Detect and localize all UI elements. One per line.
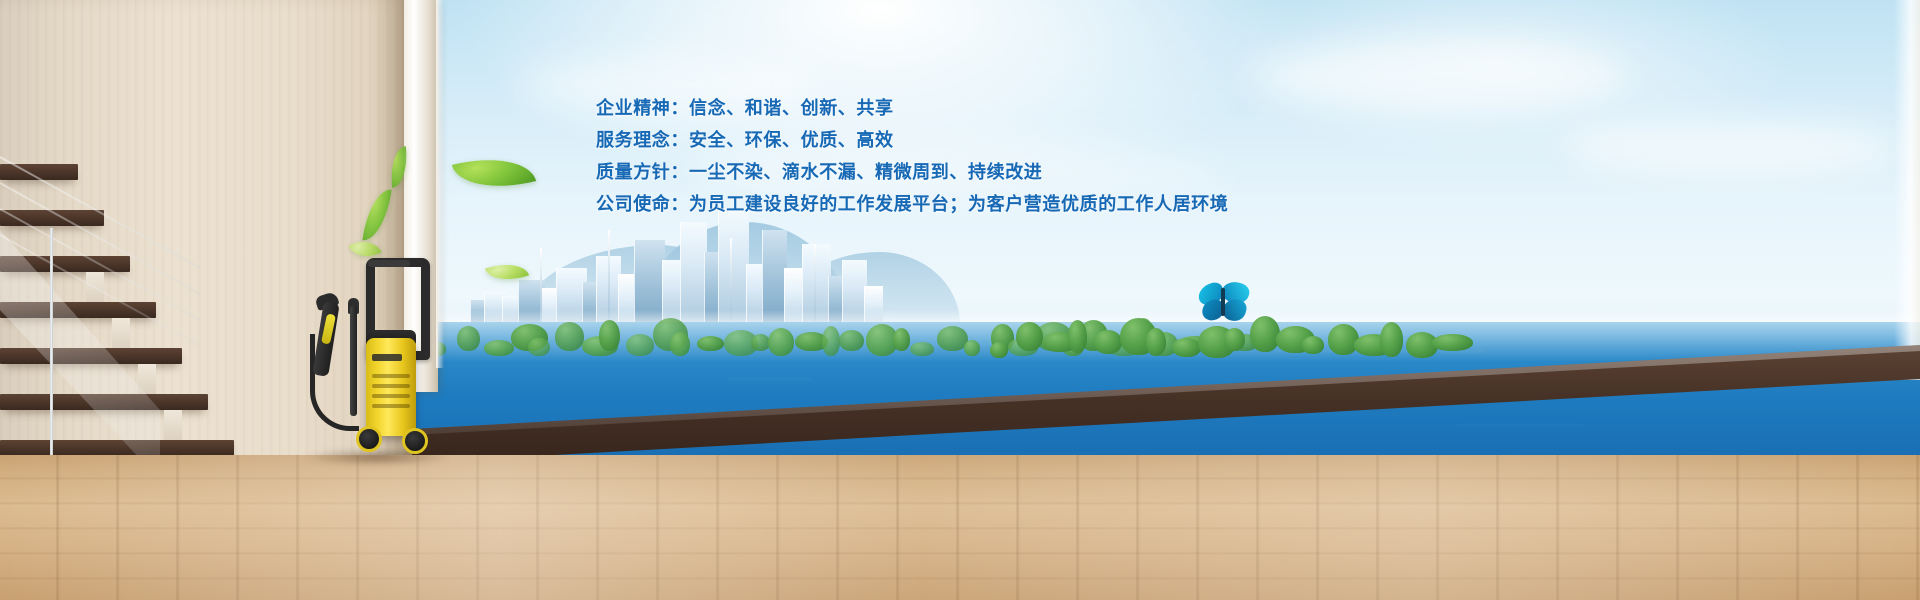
stair-riser — [112, 318, 130, 348]
window-frame-right — [1894, 0, 1920, 380]
washer-vent — [372, 404, 410, 408]
washer-wheel — [402, 428, 428, 454]
stair-tread — [0, 440, 234, 456]
washer-vent — [372, 374, 410, 378]
cloud — [1560, 120, 1900, 175]
washer-badge — [372, 354, 402, 361]
butterfly-icon — [1196, 282, 1252, 328]
washer-wheel — [356, 426, 382, 452]
hero-banner: 企业精神：信念、和谐、创新、共享 服务理念：安全、环保、优质、高效 质量方针：一… — [0, 0, 1920, 600]
philosophy-line-mission: 公司使命：为员工建设良好的工作发展平台；为客户营造优质的工作人居环境 — [596, 188, 1356, 220]
washer-vent — [372, 394, 410, 398]
stair-riser — [164, 410, 182, 440]
window-frame-inner-edge — [436, 0, 444, 368]
baseboard — [412, 340, 1920, 465]
butterfly-body — [1221, 288, 1225, 316]
washer-lance — [350, 306, 357, 416]
washer-vent — [372, 384, 410, 388]
philosophy-line-service: 服务理念：安全、环保、优质、高效 — [596, 124, 1356, 156]
philosophy-line-quality: 质量方针：一尘不染、滴水不漏、精微周到、持续改进 — [596, 156, 1356, 188]
wood-floor — [0, 455, 1920, 600]
philosophy-line-spirit: 企业精神：信念、和谐、创新、共享 — [596, 92, 1356, 124]
washer-handle-grip — [368, 260, 410, 267]
company-philosophy-text: 企业精神：信念、和谐、创新、共享 服务理念：安全、环保、优质、高效 质量方针：一… — [596, 92, 1356, 220]
pressure-washer — [310, 258, 430, 458]
floor-reflection — [0, 455, 1920, 600]
